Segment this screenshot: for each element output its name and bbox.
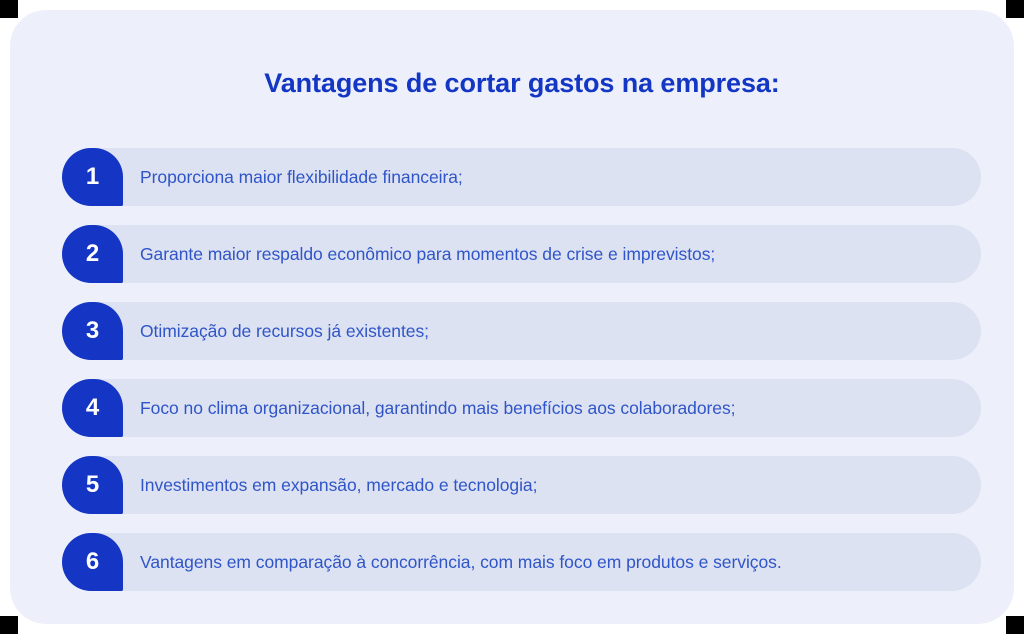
list-item-label: Garante maior respaldo econômico para mo… [140, 225, 974, 283]
list-item: 1 Proporciona maior flexibilidade financ… [10, 148, 1014, 206]
list-item-number-badge: 6 [62, 533, 123, 591]
list-item-label: Vantagens em comparação à concorrência, … [140, 533, 974, 591]
list-item-label: Foco no clima organizacional, garantindo… [140, 379, 974, 437]
list-item: 6 Vantagens em comparação à concorrência… [10, 533, 1014, 591]
infographic-card: Vantagens de cortar gastos na empresa: 1… [10, 10, 1014, 624]
list-item: 4 Foco no clima organizacional, garantin… [10, 379, 1014, 437]
corner-notch-bottom-right [1006, 616, 1024, 634]
corner-notch-bottom-left [0, 616, 18, 634]
corner-notch-top-right [1006, 0, 1024, 18]
list-item-number-badge: 4 [62, 379, 123, 437]
list-item-label: Investimentos em expansão, mercado e tec… [140, 456, 974, 514]
advantages-list: 1 Proporciona maior flexibilidade financ… [10, 148, 1014, 610]
list-item: 5 Investimentos em expansão, mercado e t… [10, 456, 1014, 514]
list-item: 2 Garante maior respaldo econômico para … [10, 225, 1014, 283]
page-title: Vantagens de cortar gastos na empresa: [10, 68, 1014, 99]
list-item-number-badge: 3 [62, 302, 123, 360]
list-item-label: Proporciona maior flexibilidade financei… [140, 148, 974, 206]
corner-notch-top-left [0, 0, 18, 18]
list-item: 3 Otimização de recursos já existentes; [10, 302, 1014, 360]
list-item-label: Otimização de recursos já existentes; [140, 302, 974, 360]
list-item-number-badge: 1 [62, 148, 123, 206]
list-item-number-badge: 5 [62, 456, 123, 514]
list-item-number-badge: 2 [62, 225, 123, 283]
